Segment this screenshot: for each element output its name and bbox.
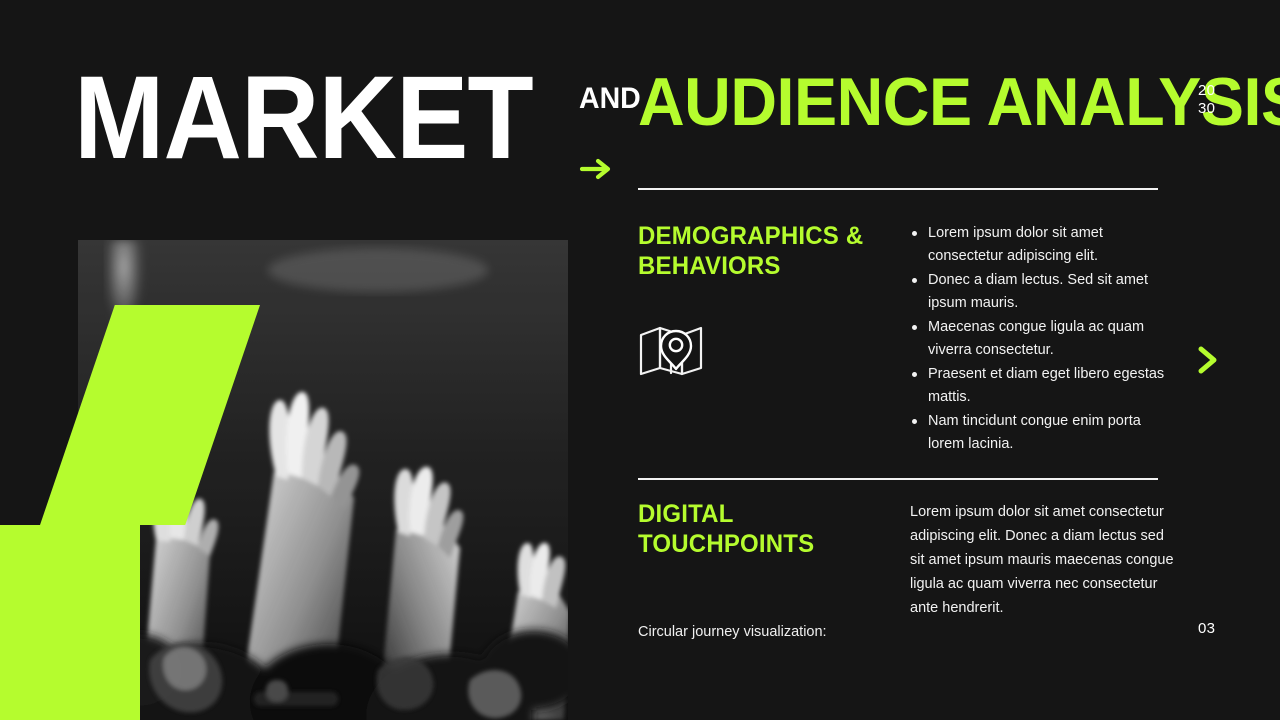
title-connector-group: AND bbox=[579, 64, 644, 182]
slide-root: MARKET AND AUDIENCE ANALYSIS 20 30 DEMOG… bbox=[0, 0, 1280, 720]
section-demographics-heading-line1: DEMOGRAPHICS & bbox=[638, 222, 899, 252]
divider-bottom bbox=[638, 478, 1158, 480]
list-item: Donec a diam lectus. Sed sit amet ipsum … bbox=[910, 269, 1178, 316]
title-and: AND bbox=[579, 82, 641, 116]
content-column: AUDIENCE ANALYSIS 20 30 DEMOGRAPHICS & B… bbox=[638, 0, 1280, 720]
arrow-right-icon bbox=[579, 156, 613, 182]
headline-row: AUDIENCE ANALYSIS bbox=[638, 70, 1158, 135]
section-touchpoints-heading-line1: DIGITAL bbox=[638, 500, 899, 530]
divider-top bbox=[638, 188, 1158, 190]
section-touchpoints-left: DIGITAL TOUCHPOINTS Circular journey vis… bbox=[638, 500, 910, 643]
section-demographics-left: DEMOGRAPHICS & BEHAVIORS bbox=[638, 222, 910, 457]
year-top: 20 bbox=[1198, 82, 1215, 100]
year-bottom: 30 bbox=[1198, 100, 1215, 118]
section-demographics-heading-line2: BEHAVIORS bbox=[638, 252, 899, 282]
map-pin-icon bbox=[638, 315, 708, 377]
section-demographics: DEMOGRAPHICS & BEHAVIORS Lorem ipsum dol… bbox=[638, 222, 1178, 457]
section-touchpoints: DIGITAL TOUCHPOINTS Circular journey vis… bbox=[638, 500, 1178, 643]
section-touchpoints-heading: DIGITAL TOUCHPOINTS bbox=[638, 500, 899, 559]
list-item: Maecenas congue ligula ac quam viverra c… bbox=[910, 316, 1178, 363]
list-item: Lorem ipsum dolor sit amet consectetur a… bbox=[910, 222, 1178, 269]
title-market: MARKET bbox=[74, 64, 533, 173]
section-demographics-right: Lorem ipsum dolor sit amet consectetur a… bbox=[910, 222, 1178, 457]
section-touchpoints-right: Lorem ipsum dolor sit amet consectetur a… bbox=[910, 500, 1178, 643]
accent-parallelogram-bottom bbox=[0, 525, 140, 720]
touchpoints-note: Circular journey visualization: bbox=[638, 622, 910, 643]
page-number: 03 bbox=[1198, 620, 1215, 637]
demographics-bullet-list: Lorem ipsum dolor sit amet consectetur a… bbox=[910, 222, 1178, 457]
section-demographics-heading: DEMOGRAPHICS & BEHAVIORS bbox=[638, 222, 899, 281]
section-touchpoints-heading-line2: TOUCHPOINTS bbox=[638, 530, 899, 560]
list-item: Nam tincidunt congue enim porta lorem la… bbox=[910, 410, 1178, 457]
page-title: AUDIENCE ANALYSIS bbox=[638, 70, 1132, 135]
touchpoints-paragraph: Lorem ipsum dolor sit amet consectetur a… bbox=[910, 500, 1178, 620]
list-item: Praesent et diam eget libero egestas mat… bbox=[910, 363, 1178, 410]
chevron-right-icon[interactable] bbox=[1194, 345, 1220, 375]
slide-title-block: MARKET AND bbox=[74, 64, 644, 182]
year-label: 20 30 bbox=[1198, 82, 1215, 119]
